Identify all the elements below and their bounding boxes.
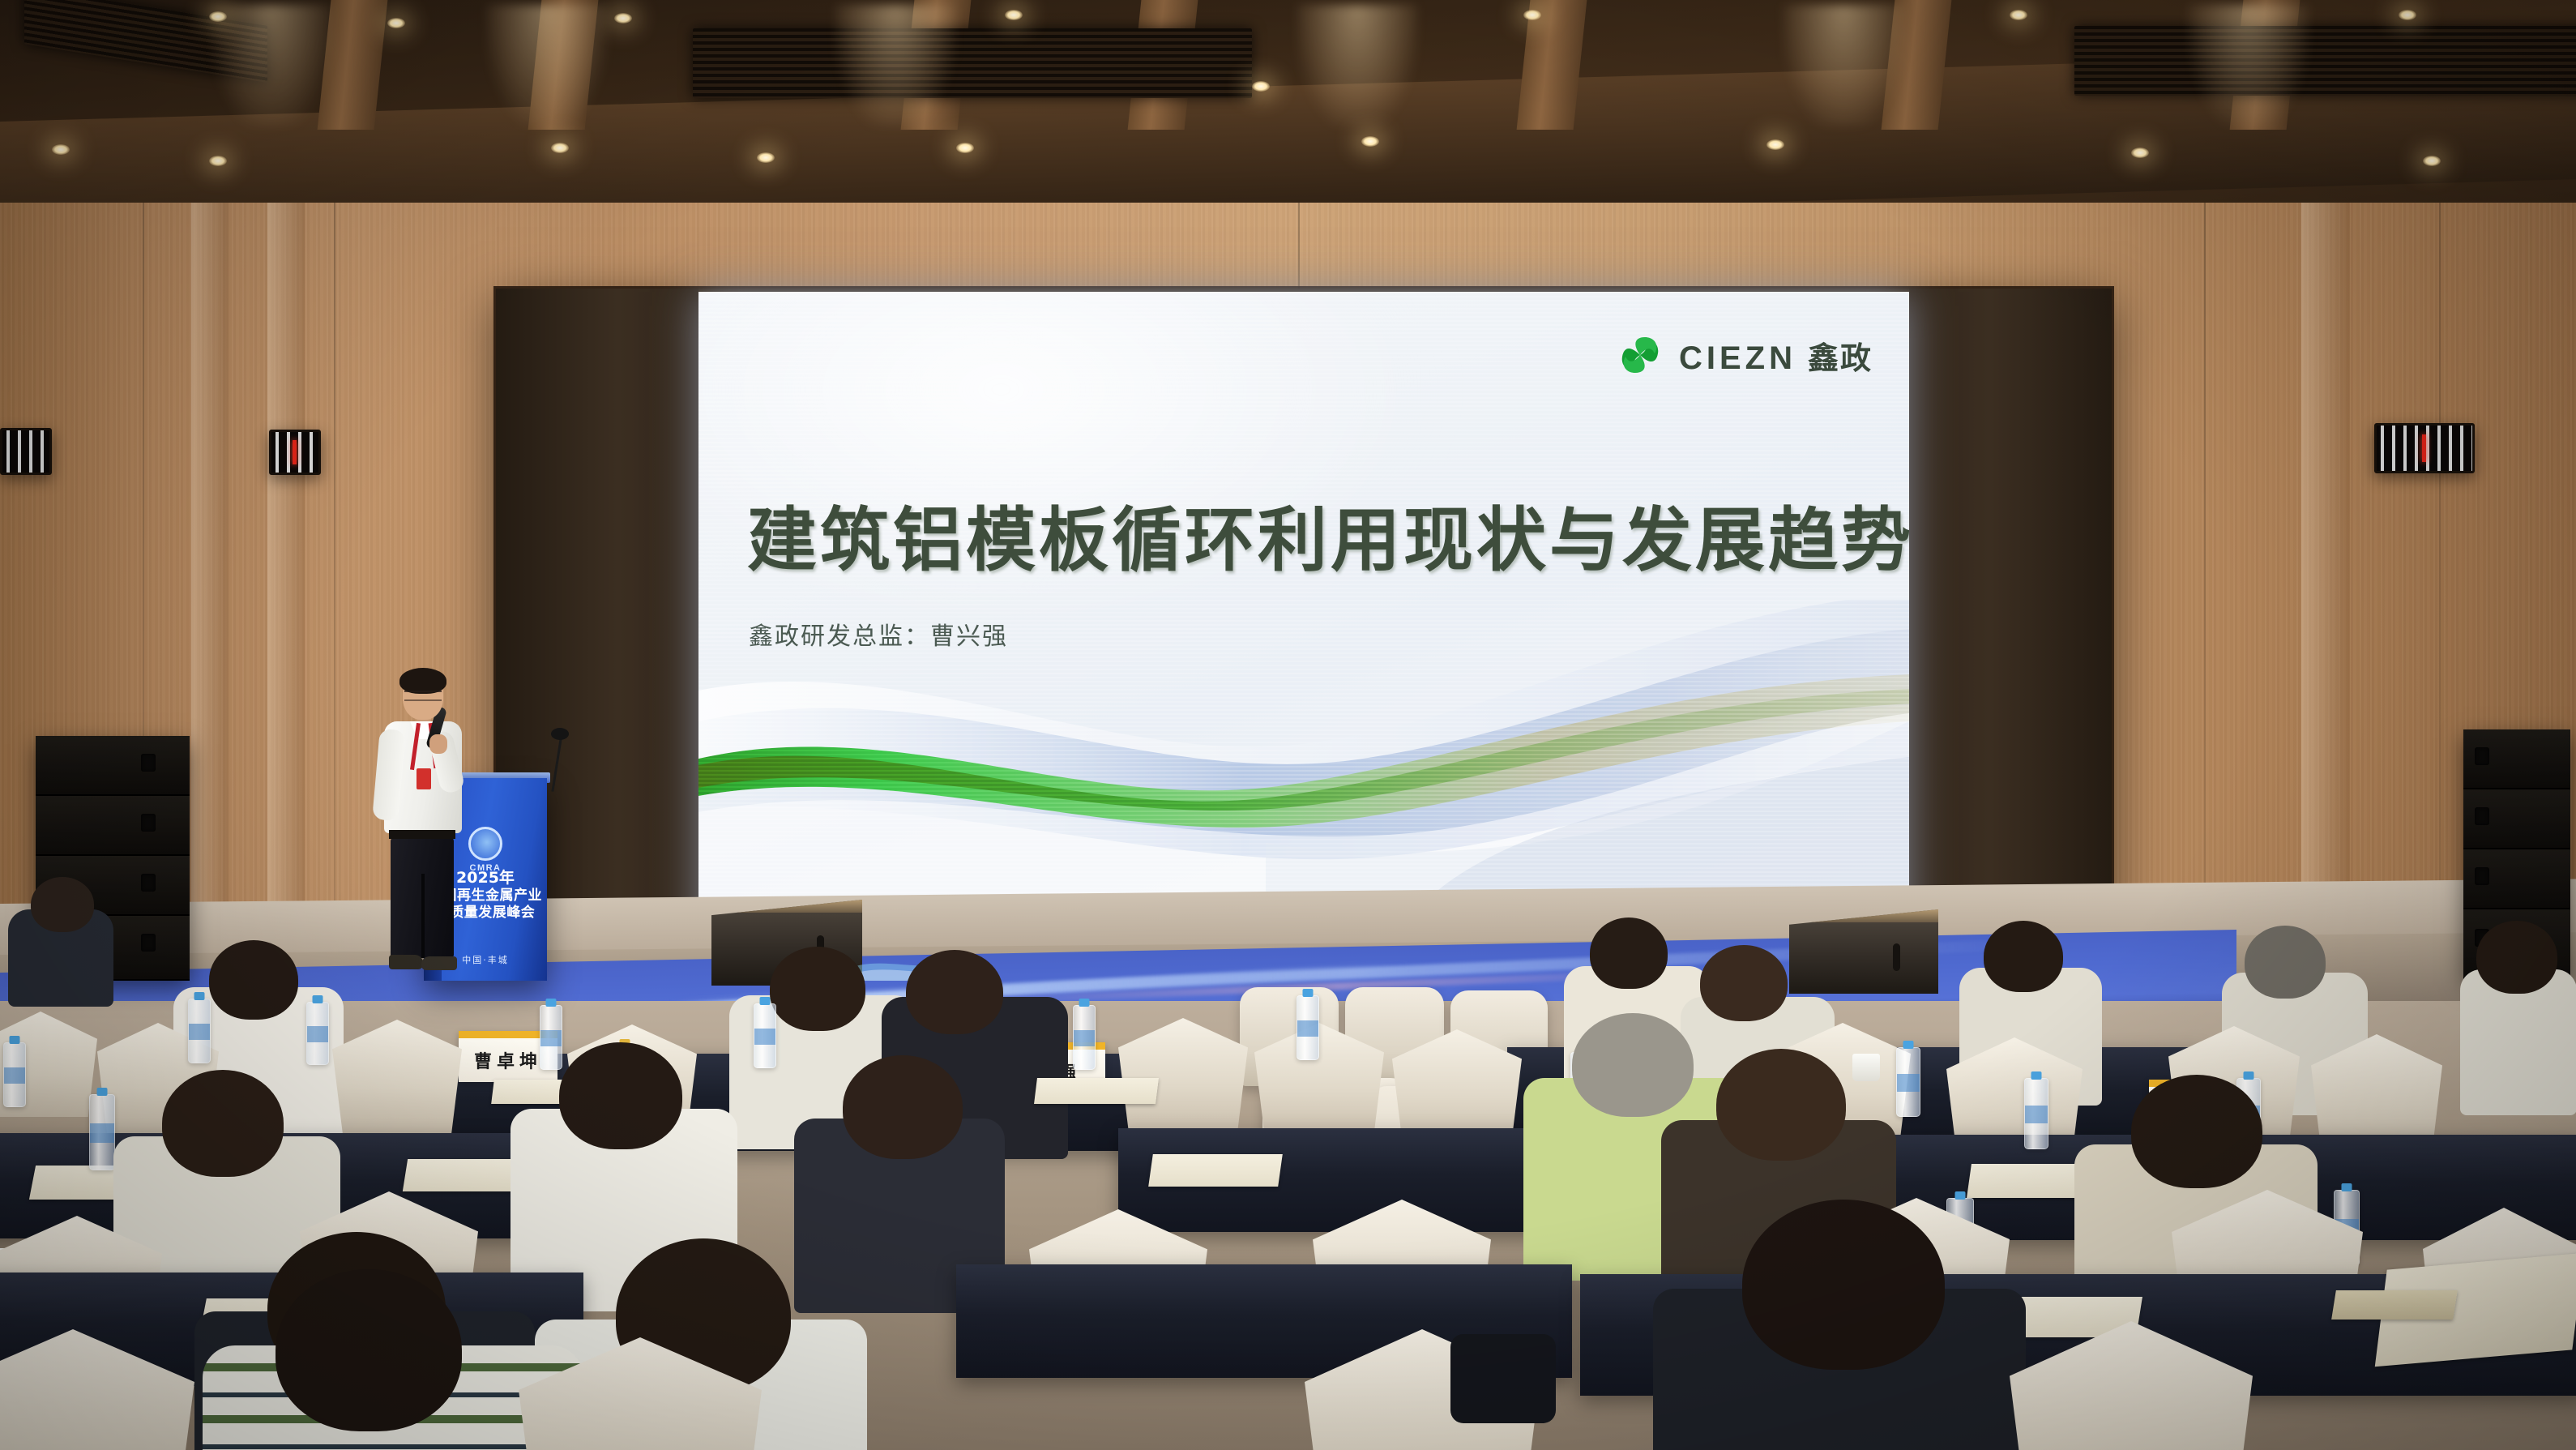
wall-pilaster xyxy=(267,203,305,1021)
recessed-downlight-icon xyxy=(2423,156,2441,166)
water-bottle xyxy=(188,999,211,1063)
logo-english-text: CIEZN xyxy=(1679,340,1796,377)
recessed-downlight-icon xyxy=(757,152,775,163)
audience-person-head xyxy=(1572,1013,1694,1117)
vent-indicator-light xyxy=(2422,434,2426,462)
recessed-downlight-icon xyxy=(1523,10,1541,20)
floor-bag xyxy=(1450,1334,1556,1423)
water-bottle xyxy=(540,1005,562,1070)
audience-person-head xyxy=(770,947,865,1031)
audience-person-head xyxy=(1742,1200,1945,1370)
ciezn-pinwheel-logo-icon xyxy=(1614,329,1666,381)
water-bottle xyxy=(89,1094,115,1170)
audience-person-head xyxy=(162,1070,284,1177)
cmra-logo-mark xyxy=(468,827,502,861)
recessed-downlight-icon xyxy=(551,143,569,153)
recessed-downlight-icon xyxy=(1252,81,1270,92)
presenter xyxy=(374,671,472,975)
recessed-downlight-icon xyxy=(2010,10,2027,20)
recessed-downlight-icon xyxy=(1766,139,1784,150)
presenter-leg-seam xyxy=(421,874,425,958)
gooseneck-microphone-head-icon xyxy=(551,728,569,740)
led-wall-right-bezel xyxy=(1909,289,2112,947)
paper-cup xyxy=(1852,1054,1880,1081)
vent-indicator-light xyxy=(293,440,297,464)
audience-person-head xyxy=(2245,926,2326,999)
notepad xyxy=(1148,1154,1283,1187)
audience-person-head xyxy=(276,1269,462,1431)
audience-person-head xyxy=(906,950,1003,1034)
wall-vent-grille xyxy=(269,430,321,475)
presentation-slide: CIEZN 鑫政 建筑铝模板循环利用现状与发展趋势 鑫政研发总监：曹兴强 xyxy=(698,292,1909,943)
audience-person-head xyxy=(843,1055,963,1159)
ceiling-wallwash-glow xyxy=(835,5,956,126)
water-bottle xyxy=(1896,1047,1920,1117)
recessed-downlight-icon xyxy=(1005,10,1023,20)
recessed-downlight-icon xyxy=(2399,10,2416,20)
ceiling-wallwash-glow xyxy=(486,5,608,126)
water-bottle xyxy=(1073,1005,1096,1070)
water-bottle xyxy=(306,1002,329,1065)
logo-wordmark: CIEZN 鑫政 xyxy=(1679,333,1873,378)
ceiling-wallwash-glow xyxy=(2188,5,2309,126)
presenter-right-shoe xyxy=(421,956,457,970)
audience-person-head xyxy=(559,1042,682,1149)
presenter-left-shoe xyxy=(389,955,423,969)
ceiling-wallwash-glow xyxy=(1297,5,1418,126)
agenda-document xyxy=(1034,1078,1159,1104)
logo-chinese-text: 鑫政 xyxy=(1808,333,1873,378)
ceiling-vent-grille xyxy=(693,28,1252,98)
water-bottle xyxy=(3,1042,26,1107)
recessed-downlight-icon xyxy=(2131,148,2149,158)
presenter-hand xyxy=(429,734,447,754)
audience-person-head xyxy=(1984,921,2063,992)
ceiling-wallwash-glow xyxy=(211,5,332,126)
water-bottle xyxy=(2024,1078,2048,1149)
presenter-badge xyxy=(417,768,431,789)
wall-panel-seam xyxy=(334,203,335,1021)
ceiling-wallwash-glow xyxy=(1783,5,1904,126)
audience-person-head xyxy=(1716,1049,1846,1161)
water-bottle xyxy=(1297,995,1319,1060)
presenter-belt xyxy=(389,830,455,839)
audience-person-head xyxy=(2131,1075,2262,1188)
recessed-downlight-icon xyxy=(387,18,405,28)
recessed-downlight-icon xyxy=(956,143,974,153)
ceiling-vent-grille xyxy=(2074,26,2576,96)
audience-person-head xyxy=(209,940,298,1020)
audience-person-head xyxy=(1590,917,1668,989)
recessed-downlight-icon xyxy=(52,144,70,155)
presenter-glasses-icon xyxy=(404,691,442,701)
slide-subtitle: 鑫政研发总监：曹兴强 xyxy=(749,616,1008,652)
water-bottle xyxy=(754,1003,776,1068)
audience-person-head xyxy=(31,877,94,932)
agenda-booklet-page xyxy=(2331,1290,2458,1320)
wall-pilaster xyxy=(191,203,229,1021)
recessed-downlight-icon xyxy=(614,13,632,24)
wall-vent-grille xyxy=(0,428,52,475)
recessed-downlight-icon xyxy=(209,11,227,22)
wall-vent-grille xyxy=(2374,423,2475,473)
conference-hall-photo: CIEZN 鑫政 建筑铝模板循环利用现状与发展趋势 鑫政研发总监：曹兴强 xyxy=(0,0,2576,1450)
brand-logo: CIEZN 鑫政 xyxy=(1614,329,1873,381)
recessed-downlight-icon xyxy=(209,156,227,166)
recessed-downlight-icon xyxy=(1361,136,1379,147)
slide-title: 建筑铝模板循环利用现状与发展趋势 xyxy=(747,483,1865,584)
audience-person-head xyxy=(1700,945,1788,1021)
name-card-text: 曹卓坤 xyxy=(474,1047,542,1073)
audience-person-head xyxy=(2476,921,2557,994)
